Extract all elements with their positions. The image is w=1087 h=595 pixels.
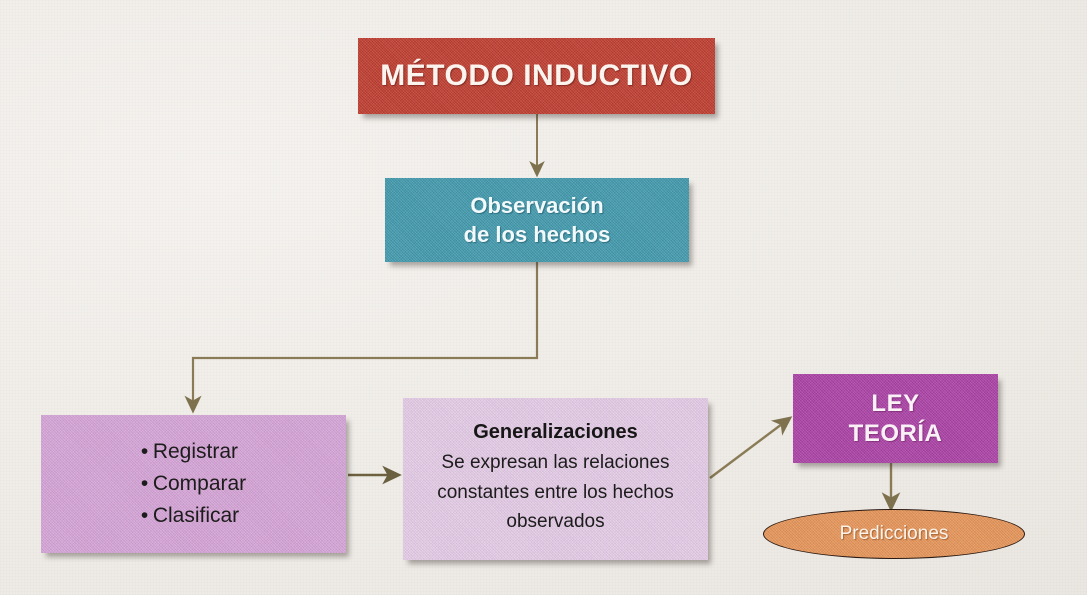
- generalizations-line2: constantes entre los hechos: [437, 478, 674, 507]
- generalizations-line3: observados: [506, 507, 604, 536]
- list-item: •Registrar: [141, 436, 246, 468]
- node-predicciones[interactable]: Predicciones: [763, 509, 1025, 559]
- connector-observation-to-actions: [193, 262, 537, 411]
- actions-item-label: Clasificar: [153, 504, 239, 527]
- bullet-glyph: •: [141, 500, 153, 532]
- title-box-label: MÉTODO INDUCTIVO: [380, 59, 692, 93]
- law-box-line2: TEORÍA: [849, 419, 943, 449]
- bullet-glyph: •: [141, 436, 153, 468]
- actions-list: •Registrar •Comparar •Clasificar: [141, 436, 246, 532]
- node-title-metodo-inductivo[interactable]: MÉTODO INDUCTIVO: [358, 38, 715, 114]
- node-generalizaciones[interactable]: Generalizaciones Se expresan las relacio…: [403, 398, 708, 560]
- node-ley-teoria[interactable]: LEY TEORÍA: [793, 374, 998, 463]
- actions-item-label: Comparar: [153, 472, 246, 495]
- observation-box-line2: de los hechos: [464, 220, 611, 249]
- generalizations-heading: Generalizaciones: [473, 421, 638, 444]
- law-box-line1: LEY: [871, 389, 919, 419]
- node-acciones-registrar-comparar-clasificar[interactable]: •Registrar •Comparar •Clasificar: [41, 415, 346, 553]
- bullet-glyph: •: [141, 468, 153, 500]
- node-observacion-de-los-hechos[interactable]: Observación de los hechos: [385, 178, 689, 262]
- observation-box-line1: Observación: [470, 191, 603, 220]
- list-item: •Comparar: [141, 468, 246, 500]
- generalizations-line1: Se expresan las relaciones: [441, 448, 669, 477]
- actions-item-label: Registrar: [153, 440, 238, 463]
- list-item: •Clasificar: [141, 500, 246, 532]
- connector-generalizations-to-law: [710, 418, 790, 478]
- predictions-label: Predicciones: [840, 523, 949, 545]
- inductive-method-diagram: MÉTODO INDUCTIVO Observación de los hech…: [0, 0, 1087, 595]
